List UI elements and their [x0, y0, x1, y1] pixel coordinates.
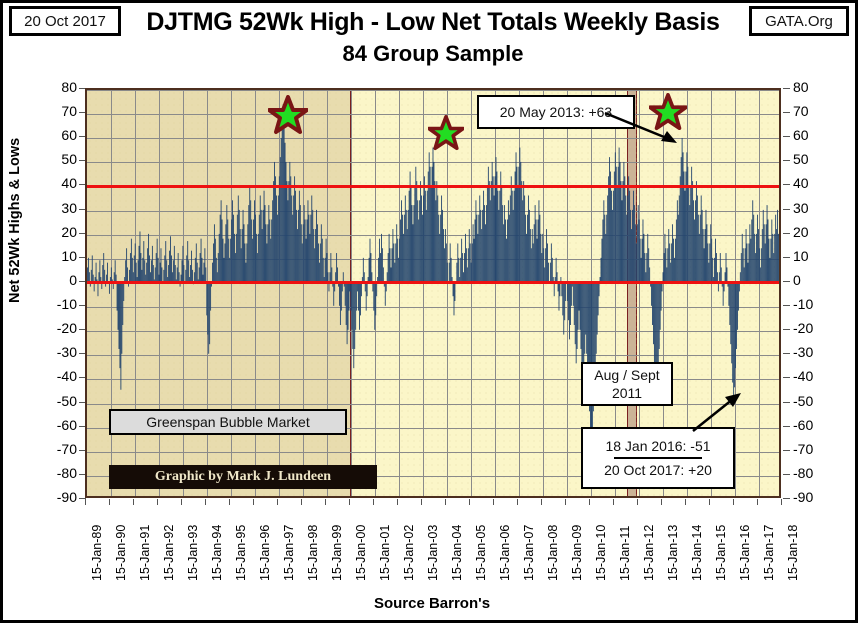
annotation-divider	[614, 457, 702, 459]
callout-arrow-2016	[689, 391, 745, 435]
x-tick-label: 15-Jan-01	[378, 525, 392, 581]
y-tick-label: -50	[41, 393, 77, 409]
y-tick-label: -50	[793, 393, 829, 409]
y-tick-label: -20	[793, 320, 829, 336]
title-line-1: DJTMG 52Wk High - Low Net Totals Weekly …	[123, 7, 743, 37]
x-axis-label: Source Barron's	[3, 595, 858, 612]
y-tick-label: 10	[41, 248, 77, 264]
y-tick-label: 30	[41, 200, 77, 216]
y-tick-label: -30	[793, 344, 829, 360]
star-marker-2004	[428, 115, 464, 151]
x-tick-label: 15-Jan-13	[666, 525, 680, 581]
x-tick-label: 15-Jan-92	[162, 525, 176, 581]
y-tick-label: 20	[41, 224, 77, 240]
y-tick-label: -40	[793, 368, 829, 384]
chart-page: 20 Oct 2017 GATA.Org DJTMG 52Wk High - L…	[0, 0, 858, 623]
y-tick-label: 80	[41, 79, 77, 95]
greenspan-bubble-label: Greenspan Bubble Market	[109, 409, 347, 435]
y-tick-label: -20	[41, 320, 77, 336]
annotation-aug-sept-2011: Aug / Sept 2011	[581, 362, 673, 406]
x-tick-label: 15-Jan-09	[570, 525, 584, 581]
y-tick-label: -90	[41, 489, 77, 505]
source-badge: GATA.Org	[749, 6, 849, 36]
x-tick-label: 15-Jan-93	[186, 525, 200, 581]
callout-arrow-2013	[603, 111, 683, 147]
x-tick-label: 15-Jan-18	[786, 525, 800, 581]
annotation-aug-line1: Aug / Sept	[594, 366, 659, 384]
y-tick-label: 40	[41, 175, 77, 191]
y-tick-label: -90	[793, 489, 829, 505]
page-title: DJTMG 52Wk High - Low Net Totals Weekly …	[123, 7, 743, 69]
annotation-latest-2017: 20 Oct 2017: +20	[604, 462, 712, 478]
x-tick-label: 15-Jan-91	[138, 525, 152, 581]
y-tick-label: 20	[793, 224, 829, 240]
x-tick-label: 15-Jan-16	[738, 525, 752, 581]
y-tick-label: 0	[793, 272, 829, 288]
y-tick-label: 50	[41, 151, 77, 167]
x-tick-label: 15-Jan-10	[594, 525, 608, 581]
annotation-lows-summary: 18 Jan 2016: -51 20 Oct 2017: +20	[581, 427, 735, 489]
y-tick-label: -30	[41, 344, 77, 360]
x-tick-label: 15-Jan-11	[618, 526, 632, 581]
x-tick-label: 15-Jan-95	[234, 525, 248, 581]
y-tick-label: -60	[793, 417, 829, 433]
x-tick-label: 15-Jan-12	[642, 525, 656, 581]
x-tick-label: 15-Jan-07	[522, 525, 536, 581]
y-tick-label: 10	[793, 248, 829, 264]
y-tick-label: -40	[41, 368, 77, 384]
date-badge-text: 20 Oct 2017	[24, 13, 106, 30]
x-tick-label: 15-Jan-90	[114, 525, 128, 581]
y-tick-label: 60	[793, 127, 829, 143]
x-tick-label: 15-Jan-03	[426, 525, 440, 581]
x-tick-label: 15-Jan-14	[690, 525, 704, 581]
y-tick-label: 80	[793, 79, 829, 95]
x-tick-label: 15-Jan-99	[330, 525, 344, 581]
y-tick-label: -10	[793, 296, 829, 312]
y-tick-label: 50	[793, 151, 829, 167]
y-tick-label: 70	[41, 103, 77, 119]
x-tick-label: 15-Jan-05	[474, 525, 488, 581]
x-tick-label: 15-Jan-15	[714, 525, 728, 581]
annotation-aug-line2: 2011	[612, 384, 642, 402]
annotation-low-2016: 18 Jan 2016: -51	[605, 438, 710, 454]
x-tick-label: 15-Jan-08	[546, 525, 560, 581]
x-tick-label: 15-Jan-06	[498, 525, 512, 581]
y-tick-label: 30	[793, 200, 829, 216]
x-tick-label: 15-Jan-00	[354, 525, 368, 581]
y-tick-label: 0	[41, 272, 77, 288]
y-tick-label: -10	[41, 296, 77, 312]
y-tick-label: 60	[41, 127, 77, 143]
source-badge-text: GATA.Org	[765, 13, 833, 30]
annotation-peak-2013-text: 20 May 2013: +63	[500, 104, 612, 120]
y-tick-label: -80	[793, 465, 829, 481]
y-tick-label: -60	[41, 417, 77, 433]
star-marker-1997	[268, 95, 308, 135]
y-tick-label: -80	[41, 465, 77, 481]
x-tick-label: 15-Jan-96	[258, 525, 272, 581]
graphic-credit: Graphic by Mark J. Lundeen	[109, 465, 377, 489]
graphic-credit-text: Graphic by Mark J. Lundeen	[155, 469, 331, 485]
x-tick-label: 15-Jan-04	[450, 525, 464, 581]
y-tick-label: -70	[793, 441, 829, 457]
date-badge: 20 Oct 2017	[9, 6, 121, 36]
x-tick-label: 15-Jan-97	[282, 525, 296, 581]
title-line-2: 84 Group Sample	[123, 39, 743, 69]
y-tick-label: 40	[793, 175, 829, 191]
x-tick-label: 15-Jan-17	[762, 525, 776, 581]
x-tick-label: 15-Jan-94	[210, 525, 224, 581]
greenspan-bubble-text: Greenspan Bubble Market	[146, 414, 309, 430]
y-tick-label: 70	[793, 103, 829, 119]
x-tick-label: 15-Jan-98	[306, 525, 320, 581]
y-axis-label: Net 52Wk Highs & Lows	[7, 138, 23, 303]
y-tick-label: -70	[41, 441, 77, 457]
x-tick-label: 15-Jan-02	[402, 525, 416, 581]
x-tick-label: 15-Jan-89	[90, 525, 104, 581]
